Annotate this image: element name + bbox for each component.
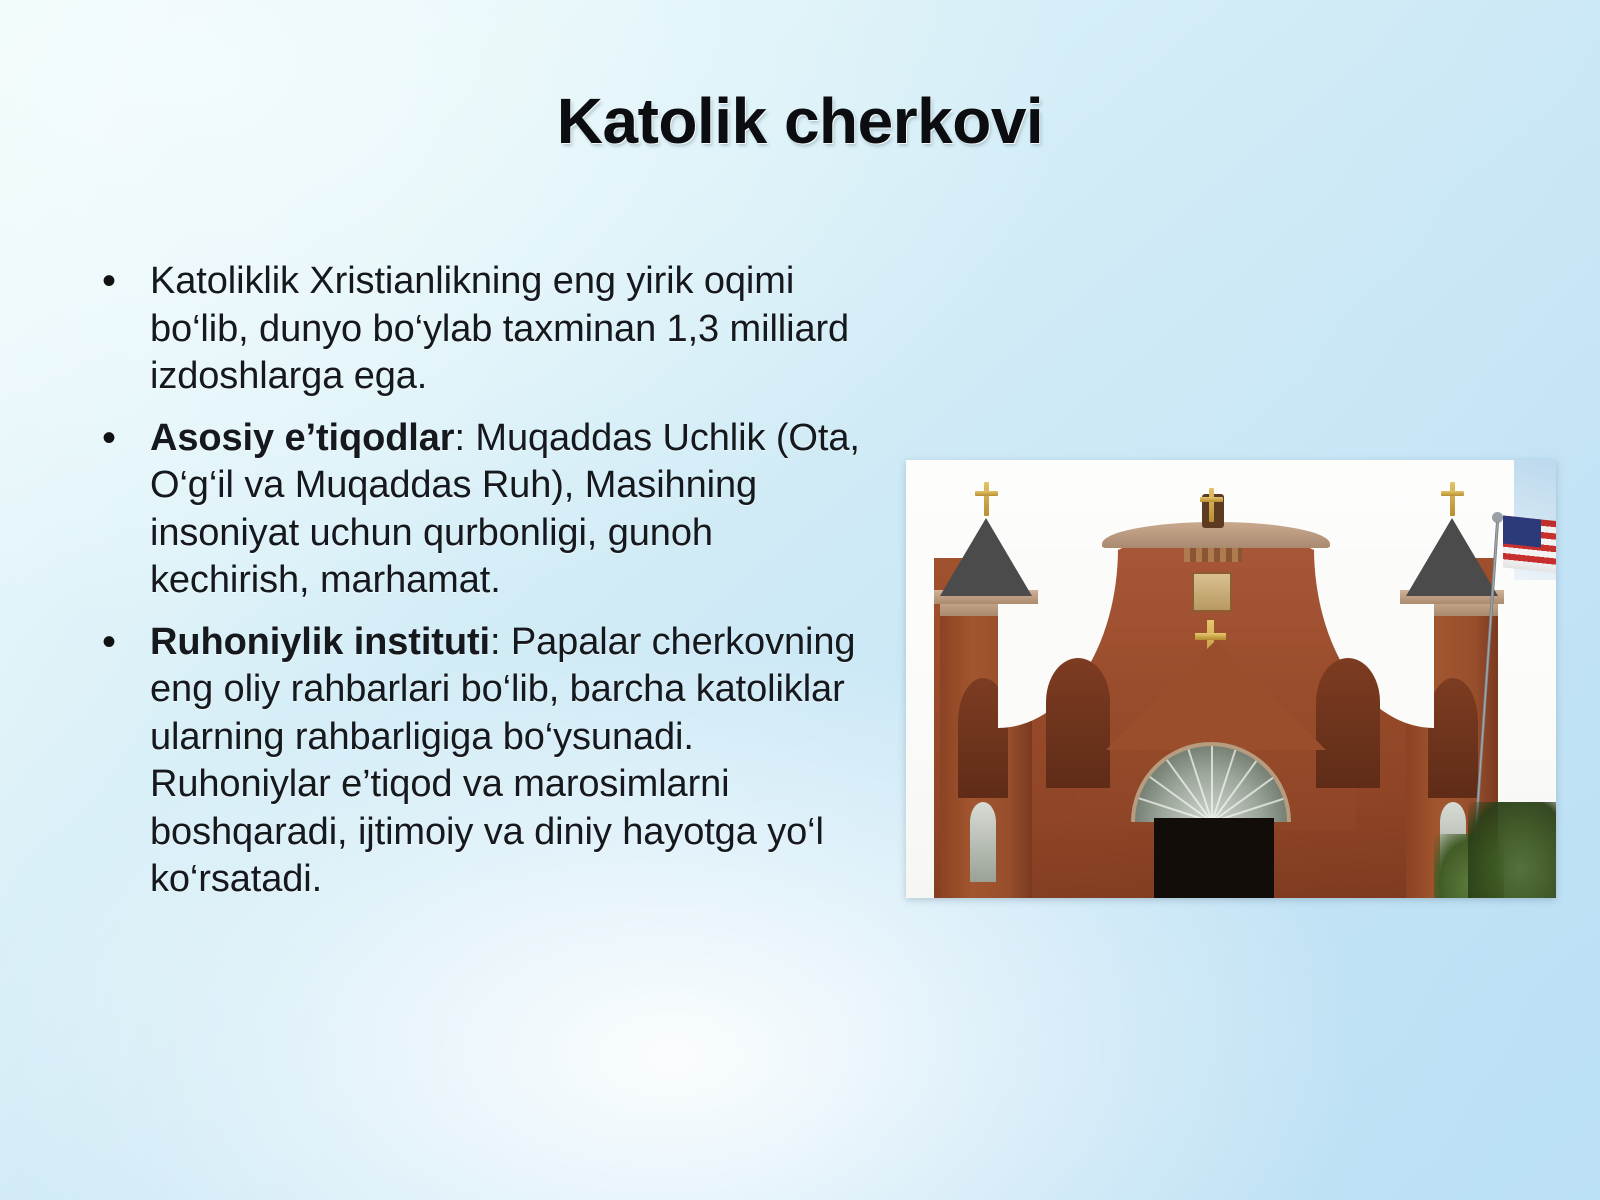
church-emblem <box>1192 572 1232 612</box>
list-item-text: Katoliklik Xristianlikning eng yirik oqi… <box>150 258 878 401</box>
gable-corbels <box>1184 548 1242 562</box>
bullet-marker: • <box>88 258 150 305</box>
list-item-body: Katoliklik Xristianlikning eng yirik oqi… <box>150 260 849 397</box>
tower-arch-window <box>1428 678 1478 798</box>
list-item-lead: Asosiy e’tiqodlar <box>150 417 455 459</box>
bullet-list: • Katoliklik Xristianlikning eng yirik o… <box>88 258 878 918</box>
page-title: Katolik cherkovi <box>0 84 1600 158</box>
church-spire-left <box>940 518 1032 596</box>
cross-icon-left-spire <box>973 482 999 516</box>
entrance-pediment <box>1106 640 1326 750</box>
church-entrance-door <box>1154 818 1274 898</box>
tree-foliage <box>1468 802 1556 898</box>
list-item: • Ruhoniylik instituti: Papalar cherkovn… <box>88 619 878 904</box>
list-item: • Katoliklik Xristianlikning eng yirik o… <box>88 258 878 401</box>
american-flag-icon <box>1503 515 1556 576</box>
slide-canvas: Katolik cherkovi • Katoliklik Xristianli… <box>0 0 1600 1200</box>
facade-arch-window-left <box>1046 658 1110 788</box>
bullet-marker: • <box>88 415 150 462</box>
list-item-lead: Ruhoniylik instituti <box>150 621 490 663</box>
list-item-text: Ruhoniylik instituti: Papalar cherkovnin… <box>150 619 878 904</box>
cross-icon-right-spire <box>1439 482 1465 516</box>
list-item-text: Asosiy e’tiqodlar: Muqaddas Uchlik (Ota,… <box>150 415 878 605</box>
list-item: • Asosiy e’tiqodlar: Muqaddas Uchlik (Ot… <box>88 415 878 605</box>
church-photo <box>906 460 1556 898</box>
church-photo-canvas <box>906 460 1556 898</box>
tower-window <box>970 802 996 882</box>
church-spire-right <box>1406 518 1498 596</box>
cross-icon-center <box>1198 488 1224 522</box>
flag-canton <box>1503 515 1541 547</box>
bullet-marker: • <box>88 619 150 666</box>
